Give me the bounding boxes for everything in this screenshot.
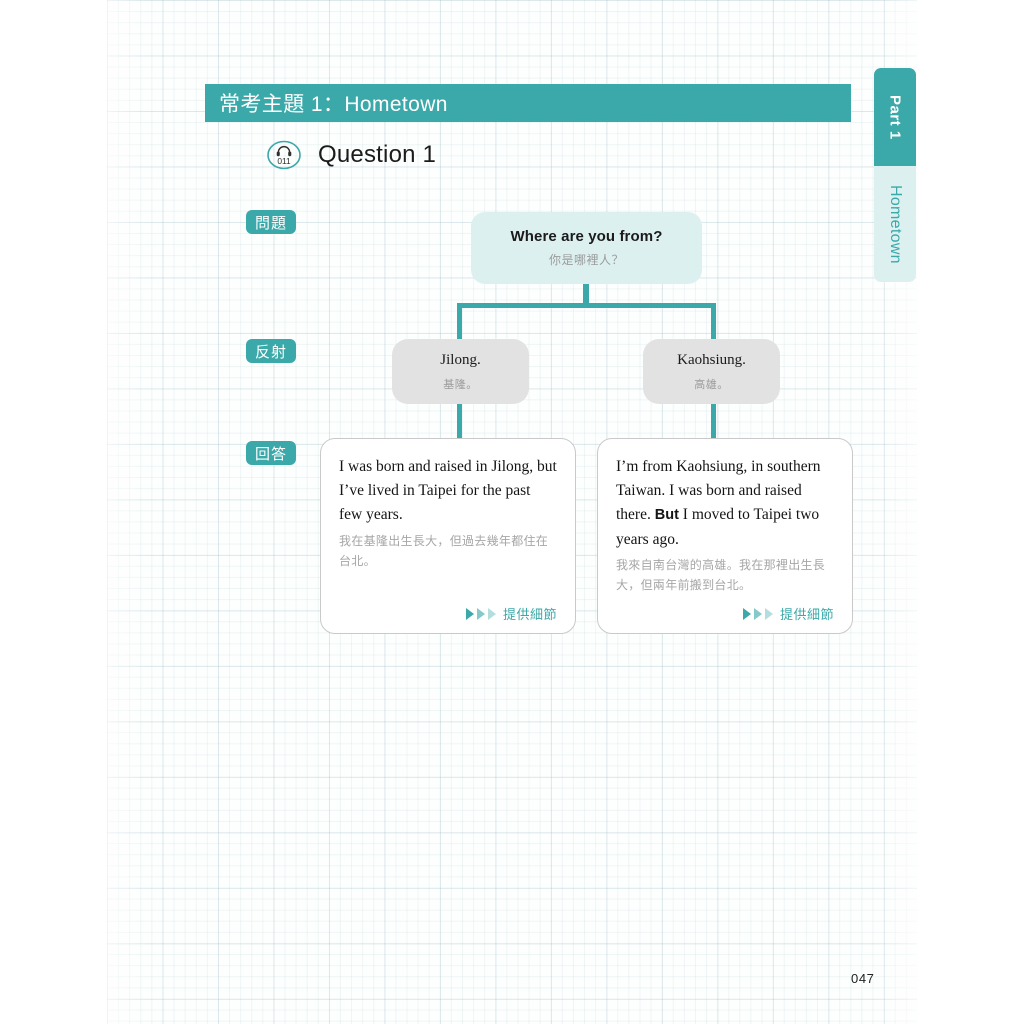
- page-number: 047: [851, 971, 875, 986]
- topic-header-bar: 常考主題 1：Hometown: [205, 84, 851, 122]
- question-english: Where are you from?: [511, 228, 663, 245]
- answer-english: I was born and raised in Jilong, but I’v…: [339, 455, 557, 528]
- detail-hint-row: 提供細節: [616, 604, 834, 623]
- triangle-arrow-icon: [488, 608, 496, 620]
- connector-horizontal: [457, 303, 716, 308]
- connector-drop-left: [457, 303, 462, 343]
- detail-hint-label: 提供細節: [503, 604, 557, 623]
- triangle-arrow-icon: [466, 608, 474, 620]
- answer-chinese: 我在基隆出生長大，但過去幾年都住在台北。: [339, 531, 557, 572]
- side-tab-part-label: Part 1: [887, 95, 904, 140]
- row-label-reflex: 反射: [246, 339, 296, 363]
- side-tab-part[interactable]: Part 1: [874, 68, 916, 166]
- triangle-arrow-icon: [477, 608, 485, 620]
- reflex-chinese: 高雄。: [694, 376, 729, 392]
- headphone-icon[interactable]: 011: [266, 140, 302, 170]
- question-header-row: 011 Question 1: [266, 140, 436, 170]
- triangle-arrow-icon: [743, 608, 751, 620]
- triangle-arrow-icon: [754, 608, 762, 620]
- answer-card: I’m from Kaohsiung, in southern Taiwan. …: [597, 438, 853, 634]
- question-bubble: Where are you from? 你是哪裡人？: [471, 212, 702, 284]
- answer-english-pre: I was born and raised in Jilong, but I’v…: [339, 458, 557, 523]
- row-label-answer: 回答: [246, 441, 296, 465]
- answer-chinese: 我來自南台灣的高雄。我在那裡出生長大，但兩年前搬到台北。: [616, 555, 834, 596]
- reflex-box: Jilong. 基隆。: [392, 339, 529, 404]
- reflex-english: Jilong.: [440, 352, 480, 369]
- answer-card: I was born and raised in Jilong, but I’v…: [320, 438, 576, 634]
- reflex-box: Kaohsiung. 高雄。: [643, 339, 780, 404]
- question-chinese: 你是哪裡人？: [549, 251, 624, 268]
- side-tab-hometown[interactable]: Hometown: [874, 166, 916, 282]
- row-label-question: 問題: [246, 210, 296, 234]
- question-title: Question 1: [318, 141, 436, 169]
- detail-hint-row: 提供細節: [339, 604, 557, 623]
- detail-hint-label: 提供細節: [780, 604, 834, 623]
- page-root: 常考主題 1：Hometown Part 1 Hometown 011 Ques…: [0, 0, 1024, 1024]
- triangle-arrow-icon: [765, 608, 773, 620]
- answer-english-bold: But: [655, 507, 679, 523]
- connector-drop-right: [711, 303, 716, 343]
- answer-english: I’m from Kaohsiung, in southern Taiwan. …: [616, 455, 834, 552]
- reflex-english: Kaohsiung.: [677, 352, 746, 369]
- side-tab-hometown-label: Hometown: [886, 185, 904, 264]
- reflex-chinese: 基隆。: [443, 376, 478, 392]
- topic-title: 常考主題 1：Hometown: [205, 88, 448, 118]
- audio-track-number: 011: [277, 156, 291, 166]
